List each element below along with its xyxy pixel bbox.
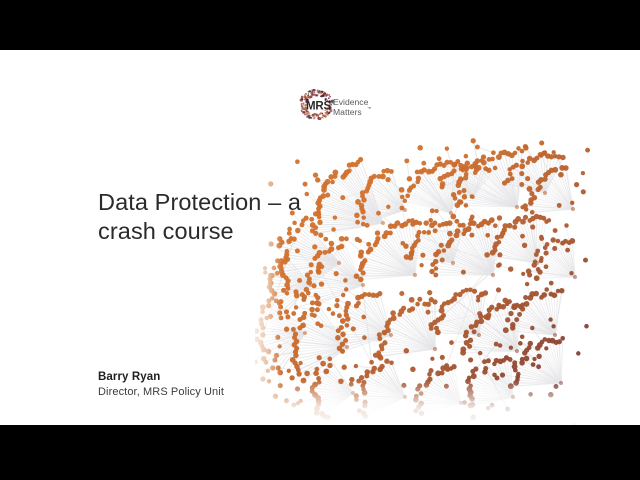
svg-text:Evidence: Evidence <box>333 97 369 107</box>
letterbox-bar-bottom <box>0 425 640 480</box>
presenter-role: Director, MRS Policy Unit <box>98 385 308 400</box>
title-line-1: Data Protection – a <box>98 188 308 217</box>
page-title: Data Protection – a crash course <box>98 188 308 246</box>
video-frame: MRS Evidence Matters ™ Data Protection –… <box>0 0 640 480</box>
presentation-slide: MRS Evidence Matters ™ Data Protection –… <box>0 50 640 425</box>
letterbox-bar-top <box>0 0 640 50</box>
presenter-name: Barry Ryan <box>98 370 308 385</box>
mrs-evidence-matters-logo: MRS Evidence Matters ™ <box>298 84 372 126</box>
presenter-block: Barry Ryan Director, MRS Policy Unit <box>98 370 308 400</box>
svg-text:™: ™ <box>367 106 371 111</box>
svg-text:Matters: Matters <box>333 107 362 117</box>
svg-text:MRS: MRS <box>306 101 331 113</box>
title-line-2: crash course <box>98 217 308 246</box>
